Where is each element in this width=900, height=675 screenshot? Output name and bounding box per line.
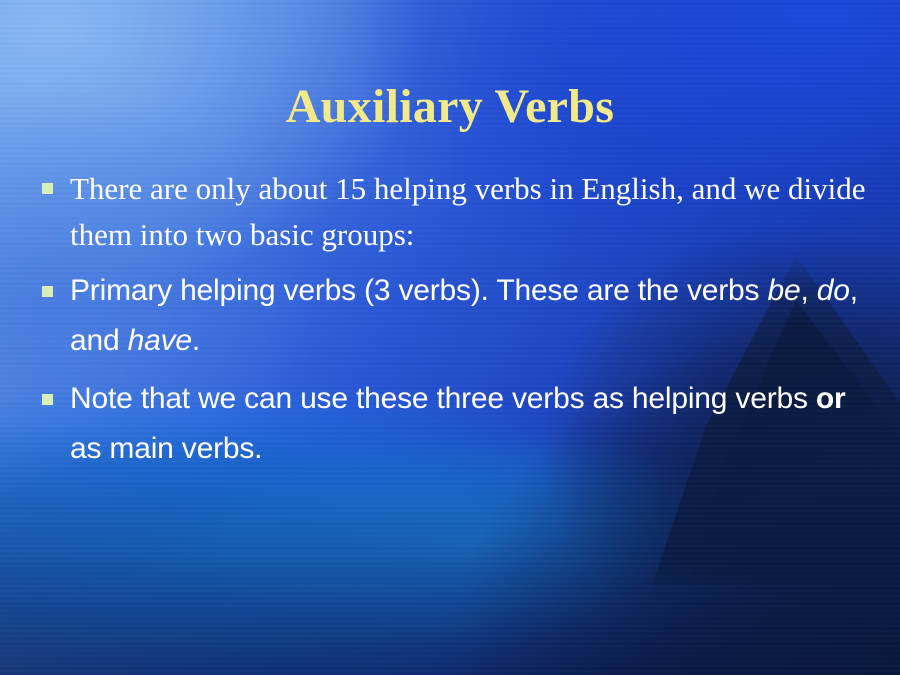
bullet-item-1: There are only about 15 helping verbs in… (34, 166, 880, 258)
presentation-slide: Auxiliary Verbs There are only about 15 … (0, 0, 900, 675)
text-run: or (816, 382, 846, 415)
text-run: be (767, 274, 800, 307)
bullet-text-2: Primary helping verbs (3 verbs). These a… (70, 266, 880, 366)
bullet-text-3: Note that we can use these three verbs a… (70, 374, 880, 474)
square-bullet-icon (42, 286, 53, 297)
text-run: do (817, 274, 850, 307)
slide-body-list: There are only about 15 helping verbs in… (34, 166, 880, 482)
text-run: , (800, 274, 816, 307)
square-bullet-icon (42, 183, 53, 194)
square-bullet-icon (42, 394, 53, 405)
text-run: Note that we can use these three verbs a… (70, 382, 816, 415)
bullet-text-1: There are only about 15 helping verbs in… (70, 166, 880, 258)
text-run: There are only about 15 helping verbs in… (70, 171, 865, 252)
text-run: . (192, 324, 200, 357)
text-run: Primary helping verbs (3 verbs). These a… (70, 274, 767, 307)
slide-content: Auxiliary Verbs There are only about 15 … (0, 0, 900, 675)
text-run: as main verbs. (70, 432, 262, 465)
bullet-item-2: Primary helping verbs (3 verbs). These a… (34, 266, 880, 366)
bullet-item-3: Note that we can use these three verbs a… (34, 374, 880, 474)
slide-title: Auxiliary Verbs (0, 81, 900, 133)
text-run: have (128, 324, 192, 357)
